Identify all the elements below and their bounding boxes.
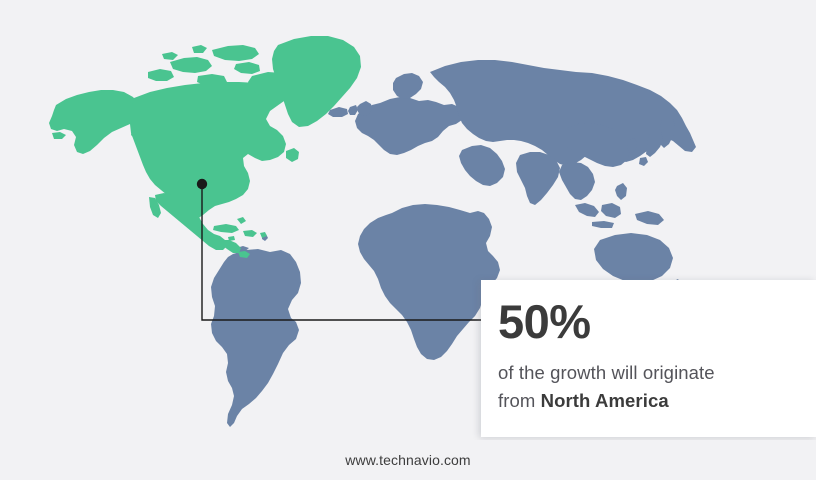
subregion-arctic-archipelago-2	[212, 45, 259, 61]
subregion-central-america	[222, 240, 241, 253]
subregion-arctic-archipelago-1	[170, 57, 212, 73]
subregion-arctic-archipelago-3	[148, 69, 174, 81]
region-japan-south	[639, 157, 648, 166]
region-indonesia-borneo	[601, 203, 621, 218]
region-australia	[594, 233, 673, 283]
region-africa	[358, 204, 500, 360]
region-south-america	[211, 249, 301, 427]
growth-percentage: 50%	[498, 298, 816, 345]
growth-region-name: North America	[541, 390, 669, 411]
region-india	[516, 152, 560, 205]
growth-description-line-1: of the growth will originate	[498, 359, 816, 387]
subregion-aleutians	[52, 132, 66, 139]
growth-description-prefix: from	[498, 390, 541, 411]
footer-bar: www.technavio.com	[0, 440, 816, 480]
region-indonesia-java	[592, 221, 614, 228]
region-southeast-asia	[559, 162, 595, 200]
subregion-arctic-archipelago-5	[234, 62, 260, 74]
growth-description-line-2: from North America	[498, 387, 816, 415]
subregion-cuba	[213, 224, 239, 233]
subregion-alaska	[49, 90, 141, 154]
growth-callout-card: 50% of the growth will originate from No…	[481, 280, 816, 437]
subregion-arctic-small-2	[162, 52, 178, 60]
region-north-america-highlight	[49, 36, 361, 258]
subregion-hispaniola	[243, 230, 257, 237]
region-ireland	[348, 105, 358, 115]
region-scandinavia	[393, 73, 423, 99]
region-middle-east	[459, 145, 505, 186]
region-indonesia-sumatra	[575, 203, 599, 217]
region-philippines	[615, 183, 627, 200]
subregion-arctic-small-1	[192, 45, 207, 53]
subregion-bahamas	[237, 217, 246, 224]
infographic-canvas: 50% of the growth will originate from No…	[0, 0, 816, 480]
region-europe	[355, 97, 464, 155]
subregion-newfoundland	[286, 148, 299, 162]
source-url: www.technavio.com	[345, 452, 470, 468]
region-new-guinea	[635, 211, 664, 225]
subregion-jamaica	[228, 236, 235, 241]
